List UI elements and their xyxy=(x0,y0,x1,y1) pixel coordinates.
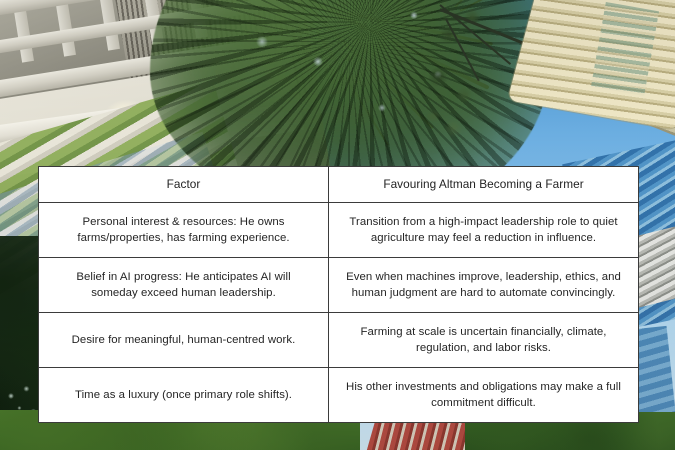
cell-favouring: Even when machines improve, leadership, … xyxy=(329,258,639,313)
cell-factor: Desire for meaningful, human-centred wor… xyxy=(39,313,329,368)
table-row: Personal interest & resources: He owns f… xyxy=(39,203,639,258)
table-header-row: Factor Favouring Altman Becoming a Farme… xyxy=(39,167,639,203)
table-row: Time as a luxury (once primary role shif… xyxy=(39,368,639,423)
column-header-factor: Factor xyxy=(39,167,329,203)
cell-factor: Time as a luxury (once primary role shif… xyxy=(39,368,329,423)
comparison-table-container: Factor Favouring Altman Becoming a Farme… xyxy=(38,166,638,423)
cell-favouring: Transition from a high-impact leadership… xyxy=(329,203,639,258)
cell-favouring: His other investments and obligations ma… xyxy=(329,368,639,423)
column-header-favouring: Favouring Altman Becoming a Farmer xyxy=(329,167,639,203)
cell-factor: Personal interest & resources: He owns f… xyxy=(39,203,329,258)
comparison-table: Factor Favouring Altman Becoming a Farme… xyxy=(38,166,639,423)
screenshot-stage: Factor Favouring Altman Becoming a Farme… xyxy=(0,0,675,450)
cell-favouring: Farming at scale is uncertain financiall… xyxy=(329,313,639,368)
cell-factor: Belief in AI progress: He anticipates AI… xyxy=(39,258,329,313)
table-row: Belief in AI progress: He anticipates AI… xyxy=(39,258,639,313)
table-row: Desire for meaningful, human-centred wor… xyxy=(39,313,639,368)
